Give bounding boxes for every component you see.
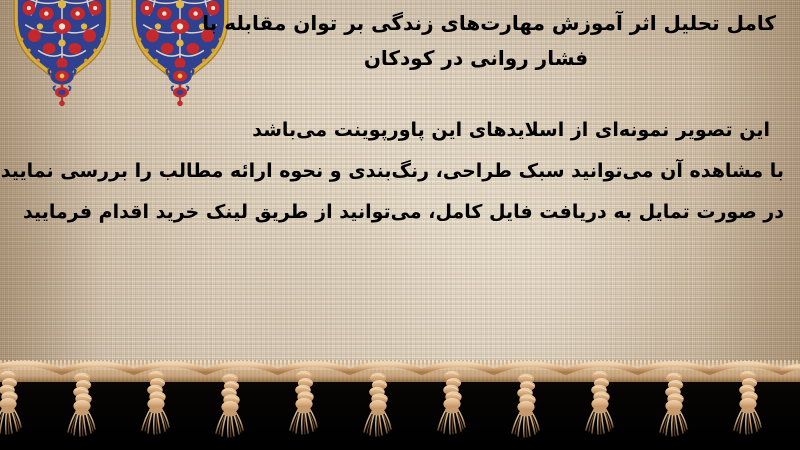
fringe-tassel [438, 371, 465, 434]
presentation-slide: کامل تحلیل اثر آموزش مهارت‌های زندگی بر … [0, 0, 800, 450]
carpet-fringe [0, 350, 800, 450]
fringe-tassel [142, 371, 169, 434]
fringe-tassels [0, 350, 800, 450]
fringe-tassel [68, 373, 95, 436]
fringe-tassel [216, 374, 243, 437]
slide-body: این تصویر نمونه‌ای از اسلایدهای این پاور… [12, 110, 784, 233]
tassel-list [0, 371, 761, 437]
body-line-2: با مشاهده آن می‌توانید سبک طراحی، رنگ‌بن… [12, 151, 784, 192]
title-line-1: کامل تحلیل اثر آموزش مهارت‌های زندگی بر … [56, 6, 776, 41]
slide-title: کامل تحلیل اثر آموزش مهارت‌های زندگی بر … [56, 6, 776, 76]
fringe-tassel [512, 374, 539, 437]
fringe-tassel [290, 371, 317, 434]
fringe-tassel [660, 373, 687, 436]
fringe-tassel [586, 371, 613, 434]
title-line-2: فشار روانی در کودکان [56, 41, 776, 76]
fringe-tassel [364, 373, 391, 436]
body-line-3: در صورت تمایل به دریافت فایل کامل، می‌تو… [12, 192, 784, 233]
body-line-1: این تصویر نمونه‌ای از اسلایدهای این پاور… [12, 110, 784, 151]
fringe-tassel [0, 371, 21, 434]
fringe-tassel [734, 371, 761, 434]
